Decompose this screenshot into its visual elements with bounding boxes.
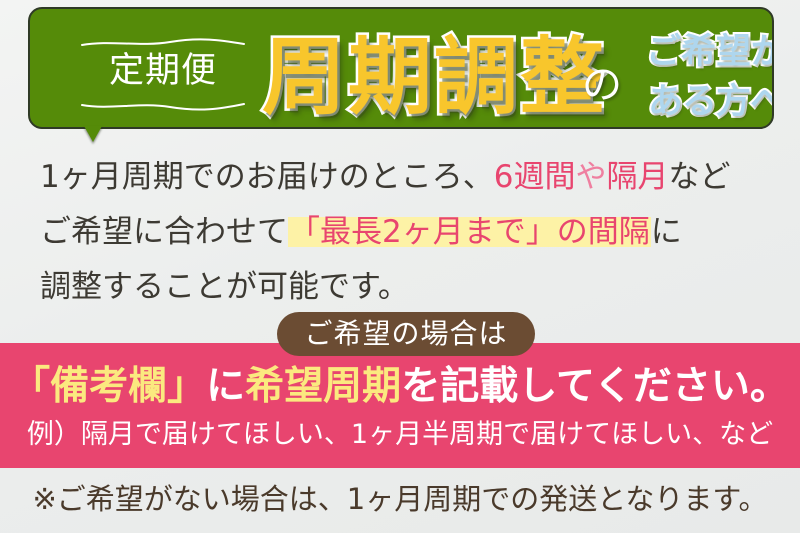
header-title: 周期調整 [262, 25, 606, 129]
instruction-part-d: を記載してください。 [401, 364, 789, 409]
instruction-cycle-term: 希望周期 [245, 364, 401, 409]
body-line1-part-c: や [575, 159, 606, 195]
header-target-line2: ある方へ [634, 77, 774, 127]
body-line1-part-a: 1ヶ月周期でのお届けのところ、 [40, 159, 494, 195]
request-case-badge: ご希望の場合は [277, 312, 535, 356]
header-title-particle: の [582, 61, 622, 109]
body-line-1: 1ヶ月周期でのお届けのところ、6週間や隔月など [40, 150, 770, 205]
instruction-part-b: に [206, 364, 245, 409]
footer-disclaimer: ※ご希望がない場合は、1ヶ月周期での発送となります。 [0, 478, 800, 520]
header-target-audience: ご希望が ある方へ [634, 27, 774, 127]
wavy-rule-top-icon [80, 39, 246, 48]
header-target-line1: ご希望が [634, 27, 774, 77]
body-line1-part-e: など [668, 159, 730, 195]
body-line-2: ご希望に合わせて「最長2ヶ月まで」の間隔に [40, 205, 770, 260]
body-line-3: 調整することが可能です。 [40, 260, 770, 315]
subscription-badge-label: 定期便 [74, 49, 252, 93]
subscription-badge: 定期便 [74, 35, 252, 111]
body-line2-highlight: 「最長2ヶ月まで」の間隔 [288, 214, 651, 250]
instruction-field-name: 「備考欄」 [11, 364, 206, 409]
instruction-band: 「備考欄」に希望周期を記載してください。 例）隔月で届けてほしい、1ヶ月半周期で… [0, 343, 800, 468]
body-line2-part-a: ご希望に合わせて [40, 214, 288, 250]
header-section: 定期便 周期調整 の ご希望が ある方へ [0, 0, 800, 150]
instruction-headline: 「備考欄」に希望周期を記載してください。 [0, 361, 800, 413]
instruction-examples: 例）隔月で届けてほしい、1ヶ月半周期で届けてほしい、など [0, 415, 800, 455]
header-green-box: 定期便 周期調整 の ご希望が ある方へ [28, 7, 774, 129]
speech-bubble-tail-icon [84, 126, 102, 142]
body-paragraph: 1ヶ月周期でのお届けのところ、6週間や隔月など ご希望に合わせて「最長2ヶ月まで… [40, 150, 770, 315]
promo-banner: 定期便 周期調整 の ご希望が ある方へ 1ヶ月周期でのお届けのところ、6週間や… [0, 0, 800, 533]
body-line1-accent-weeks: 6週間 [494, 159, 576, 195]
body-line1-accent-bimonthly: 隔月 [606, 159, 668, 195]
wavy-rule-bottom-icon [80, 101, 246, 110]
body-line2-part-b: に [651, 214, 682, 250]
